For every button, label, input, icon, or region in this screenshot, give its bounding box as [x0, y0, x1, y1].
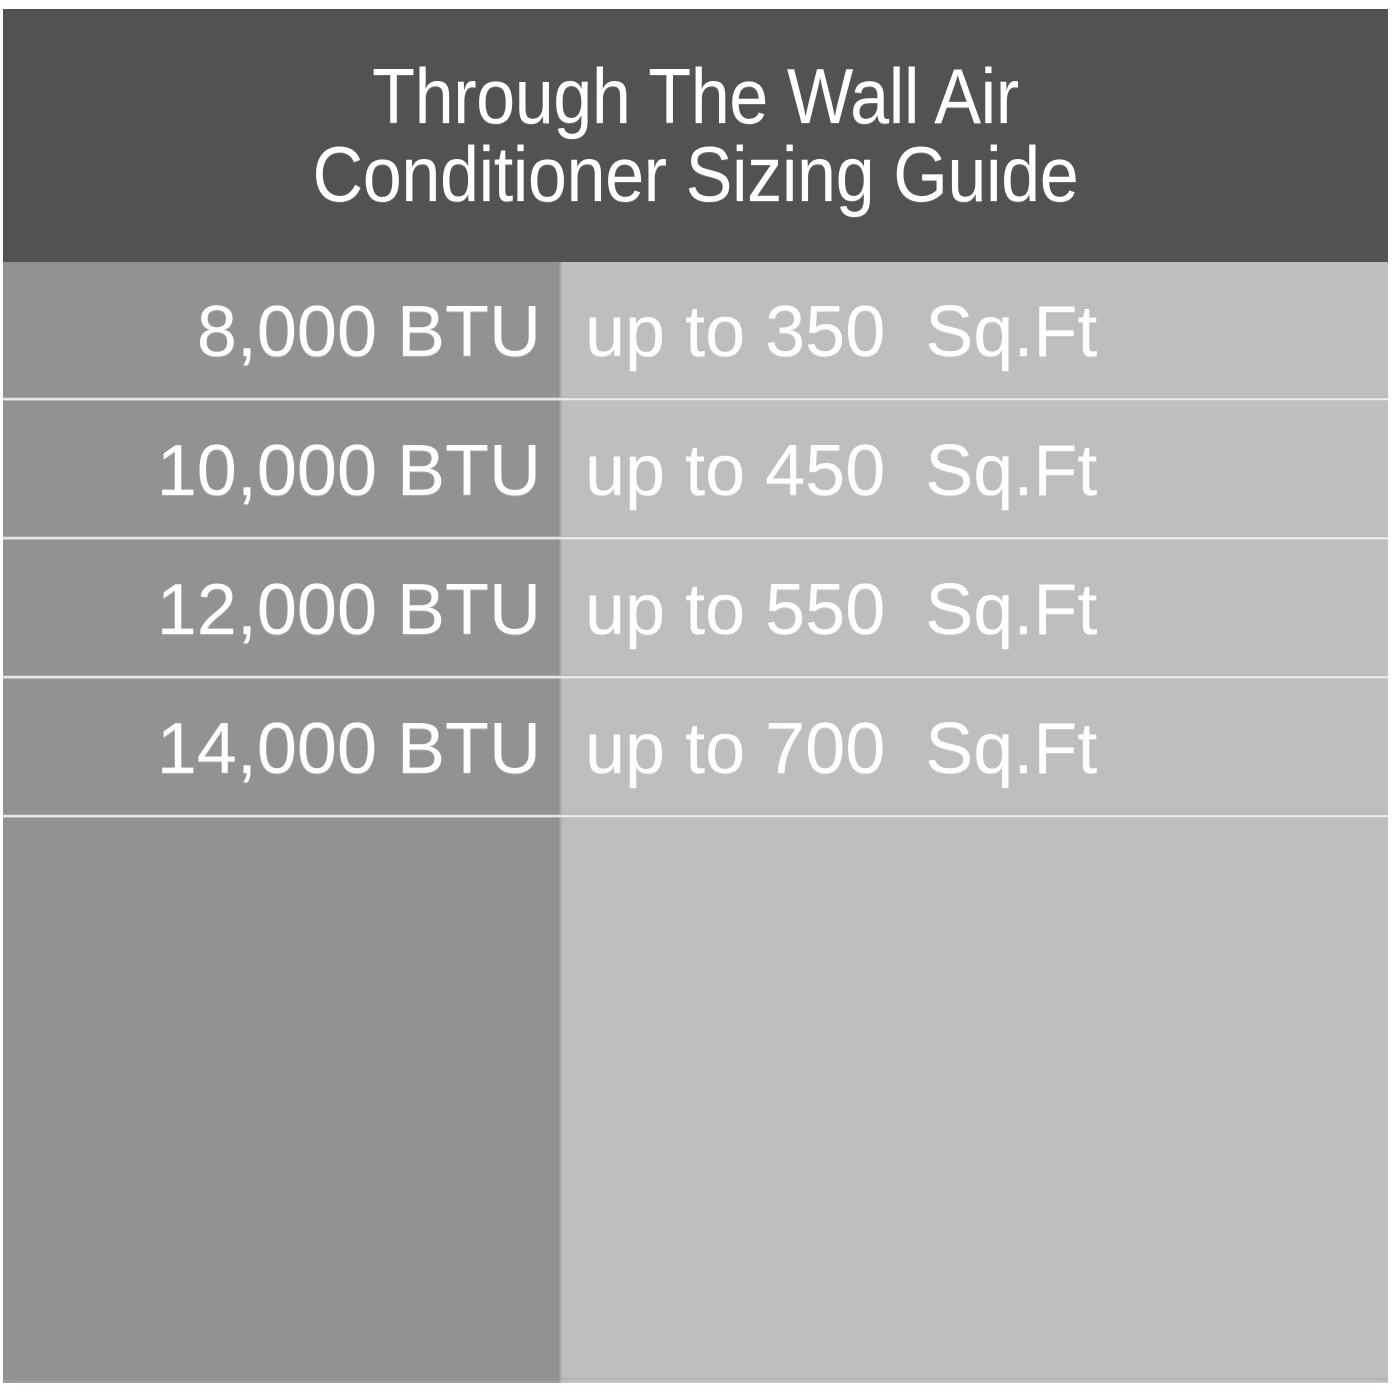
table-row: 12,000 BTU up to 550 Sq.Ft	[3, 540, 1388, 679]
area-cell: up to 350 Sq.Ft	[557, 296, 1388, 368]
btu-cell: 8,000 BTU	[3, 296, 557, 368]
area-cell: up to 550 Sq.Ft	[557, 574, 1388, 646]
page-title: Through The Wall Air Conditioner Sizing …	[313, 58, 1079, 212]
table-row: 8,000 BTU up to 350 Sq.Ft	[3, 262, 1388, 401]
btu-cell: 12,000 BTU	[3, 574, 557, 646]
guide-header: Through The Wall Air Conditioner Sizing …	[3, 9, 1388, 262]
area-cell: up to 700 Sq.Ft	[557, 713, 1388, 785]
guide-table: 8,000 BTU up to 350 Sq.Ft 10,000 BTU up …	[3, 262, 1388, 1383]
btu-cell: 14,000 BTU	[3, 713, 557, 785]
btu-cell: 10,000 BTU	[3, 435, 557, 507]
row-separator	[3, 814, 1388, 818]
table-row: 14,000 BTU up to 700 Sq.Ft	[3, 679, 1388, 818]
ac-sizing-guide-card: Through The Wall Air Conditioner Sizing …	[3, 9, 1388, 1383]
table-rows: 8,000 BTU up to 350 Sq.Ft 10,000 BTU up …	[3, 262, 1388, 818]
table-row: 10,000 BTU up to 450 Sq.Ft	[3, 401, 1388, 540]
area-cell: up to 450 Sq.Ft	[557, 435, 1388, 507]
